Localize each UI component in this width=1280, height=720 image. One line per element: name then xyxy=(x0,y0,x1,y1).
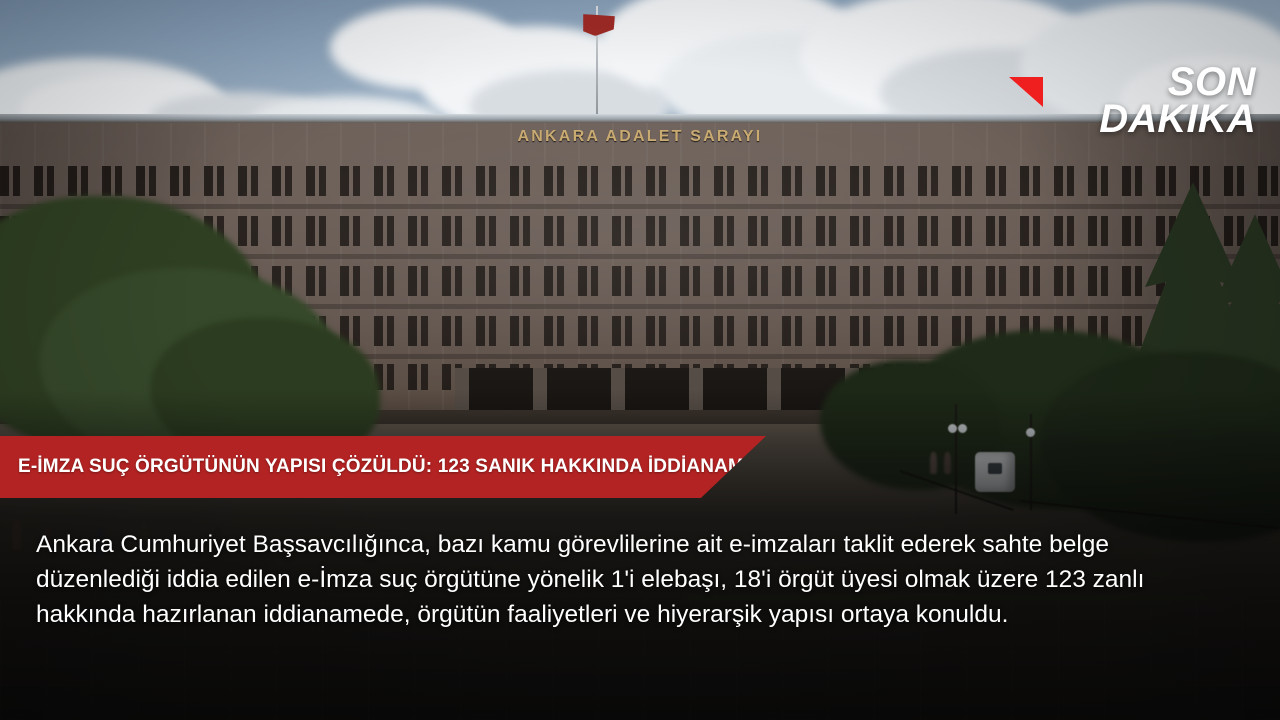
breaking-news-line1: SON xyxy=(1099,64,1256,101)
news-graphic: ANKARA ADALET SARAYI xyxy=(0,0,1280,720)
summary-line-2: düzenlediği iddia edilen e-İmza suç örgü… xyxy=(36,562,1220,597)
summary-line-1: Ankara Cumhuriyet Başsavcılığınca, bazı … xyxy=(36,527,1220,562)
headline-text: E-İMZA SUÇ ÖRGÜTÜNÜN YAPISI ÇÖZÜLDÜ: 123… xyxy=(0,456,757,478)
breaking-news-line2: DAKIKA xyxy=(1099,101,1256,138)
headline-banner: E-İMZA SUÇ ÖRGÜTÜNÜN YAPISI ÇÖZÜLDÜ: 123… xyxy=(0,436,766,498)
breaking-news-label: SON DAKIKA xyxy=(1099,64,1256,138)
article-summary: Ankara Cumhuriyet Başsavcılığınca, bazı … xyxy=(36,527,1220,632)
summary-line-3: hakkında hazırlanan iddianamede, örgütün… xyxy=(36,597,1220,632)
red-triangle-icon xyxy=(1009,77,1043,107)
breaking-news-badge: SON DAKIKA xyxy=(1009,64,1256,138)
